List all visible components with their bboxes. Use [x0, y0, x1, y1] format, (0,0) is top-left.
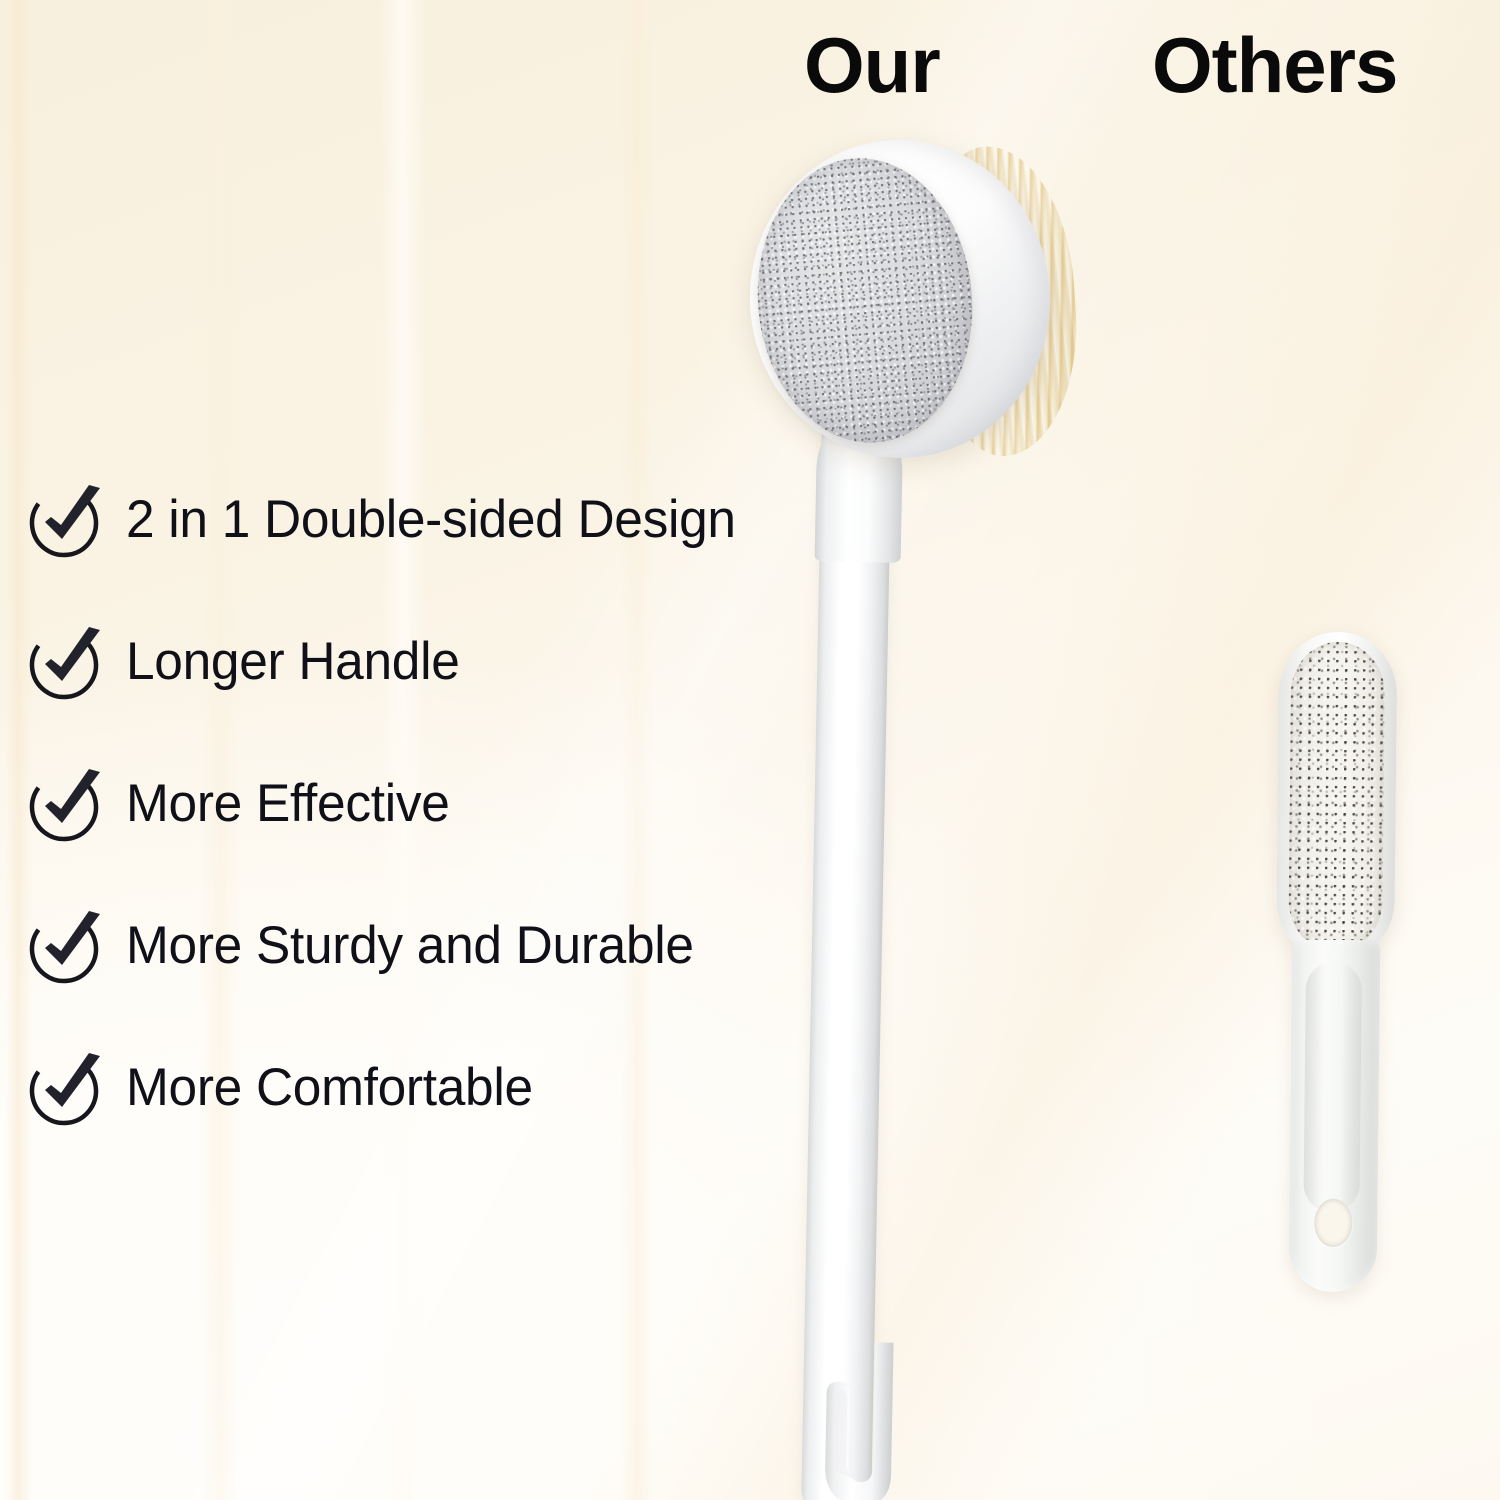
brush-handle	[801, 419, 892, 1500]
hook-hang-hole-icon	[816, 1341, 899, 1500]
others-handle-groove	[1303, 962, 1362, 1213]
feature-label: 2 in 1 Double-sided Design	[126, 493, 736, 546]
brush-head-with-pumice-icon	[720, 128, 1080, 468]
others-product-image	[1259, 631, 1426, 1293]
check-circle-icon	[26, 908, 108, 986]
check-circle-icon	[26, 624, 108, 702]
check-circle-icon	[26, 766, 108, 844]
our-product-image	[700, 120, 1100, 1500]
feature-label: More Effective	[126, 777, 450, 830]
heading-others: Others	[1152, 26, 1397, 104]
heading-our: Our	[804, 26, 940, 104]
check-circle-icon	[26, 482, 108, 560]
oval-pumice-pad-icon	[1288, 641, 1385, 952]
product-comparison-image: Our Others 2 in 1 Double-sided Design Lo…	[0, 0, 1500, 1500]
feature-label: More Sturdy and Durable	[126, 919, 694, 972]
check-circle-icon	[26, 1050, 108, 1128]
feature-label: More Comfortable	[126, 1061, 533, 1114]
feature-label: Longer Handle	[126, 635, 459, 688]
